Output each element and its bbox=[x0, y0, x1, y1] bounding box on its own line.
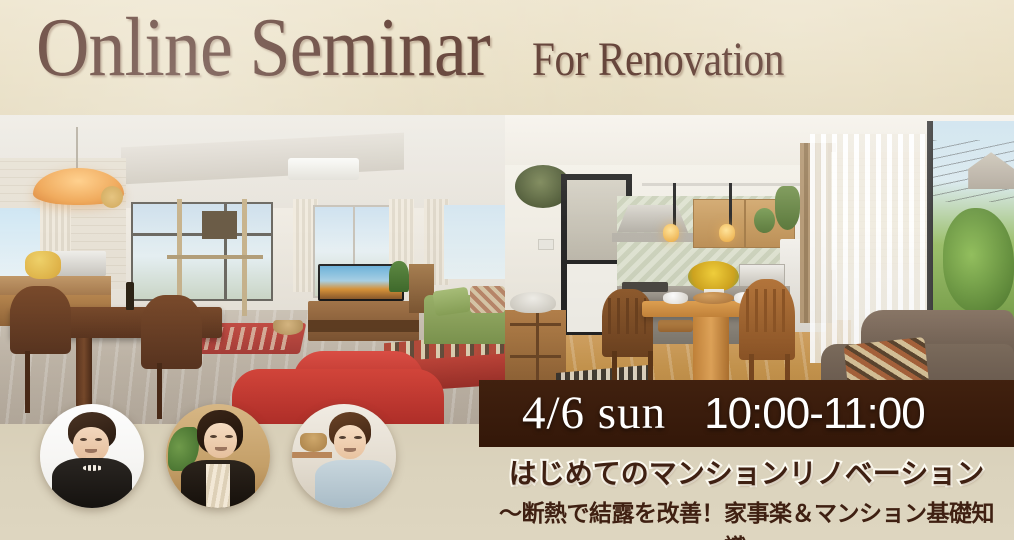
pendant-cord-1 bbox=[673, 183, 676, 226]
smile bbox=[344, 448, 356, 452]
wicker-basket bbox=[300, 433, 327, 452]
pendant-cord bbox=[76, 127, 78, 170]
wall-shelf bbox=[292, 452, 332, 458]
pearl-necklace bbox=[83, 465, 103, 470]
floor-basket bbox=[273, 320, 303, 336]
pole-shelf bbox=[167, 255, 263, 259]
dining-chair-right bbox=[141, 295, 202, 369]
hanging-plant-small bbox=[754, 208, 774, 233]
tv-stand-drawers bbox=[308, 320, 419, 332]
light-switch bbox=[538, 239, 554, 250]
pendant-bulb-2 bbox=[719, 224, 735, 242]
potted-plant bbox=[389, 261, 409, 292]
range-hood-bar bbox=[612, 233, 693, 242]
seminar-title: はじめてのマンションリノベーション bbox=[479, 452, 1014, 492]
photo-living-dining-room bbox=[0, 115, 505, 425]
coffee-cup-1 bbox=[663, 292, 688, 304]
header-band: Online Seminar For Renovation bbox=[0, 0, 1014, 115]
window-far-right bbox=[444, 205, 505, 279]
presenter-avatar-2 bbox=[166, 404, 270, 508]
event-date: 4/6 sun bbox=[522, 390, 666, 437]
flower-vase bbox=[25, 251, 60, 279]
green-cushion bbox=[433, 286, 471, 315]
dining-chair-left-leg bbox=[25, 351, 30, 413]
face bbox=[204, 423, 236, 458]
blouse bbox=[206, 464, 231, 508]
photo-kitchen-dining-room bbox=[505, 115, 1014, 425]
garden-tree bbox=[943, 208, 1014, 313]
wine-bottle bbox=[126, 282, 134, 310]
windsor-chair-right bbox=[739, 279, 795, 360]
hanging-plant bbox=[775, 186, 800, 229]
presenter-avatar-3 bbox=[292, 404, 396, 508]
event-date-banner: 4/6 sun 10:00-11:00 bbox=[479, 380, 1014, 447]
pendant-bulb-1 bbox=[663, 224, 679, 242]
bread-plate bbox=[693, 292, 734, 304]
photo-strip bbox=[0, 115, 1014, 425]
smile bbox=[85, 449, 97, 453]
smile bbox=[215, 447, 227, 451]
dining-chair-left bbox=[10, 286, 71, 354]
seminar-subtitle: 〜断熱で結露を改善！家事楽＆マンション基礎知識〜 bbox=[479, 494, 1014, 540]
seminar-banner: Online Seminar For Renovation bbox=[0, 0, 1014, 540]
windsor-chair-left bbox=[602, 289, 653, 357]
shelf-divider bbox=[536, 313, 539, 387]
pole-box bbox=[202, 211, 237, 239]
patterned-cushion bbox=[470, 286, 505, 314]
page-subtitle: For Renovation bbox=[532, 36, 784, 84]
presenter-avatar-1 bbox=[40, 404, 144, 508]
presenter-portraits bbox=[40, 404, 396, 508]
header-title-row: Online Seminar For Renovation bbox=[36, 6, 825, 90]
glass-bowl bbox=[510, 292, 556, 314]
yellow-flowers bbox=[688, 261, 739, 292]
dining-table-leg bbox=[76, 338, 92, 406]
air-conditioner bbox=[288, 158, 359, 180]
face bbox=[334, 425, 366, 459]
wooden-stool bbox=[658, 320, 694, 332]
sweater bbox=[315, 460, 392, 508]
event-time: 10:00-11:00 bbox=[704, 392, 925, 436]
pendant-cord-2 bbox=[729, 183, 732, 226]
page-title: Online Seminar bbox=[36, 6, 490, 90]
